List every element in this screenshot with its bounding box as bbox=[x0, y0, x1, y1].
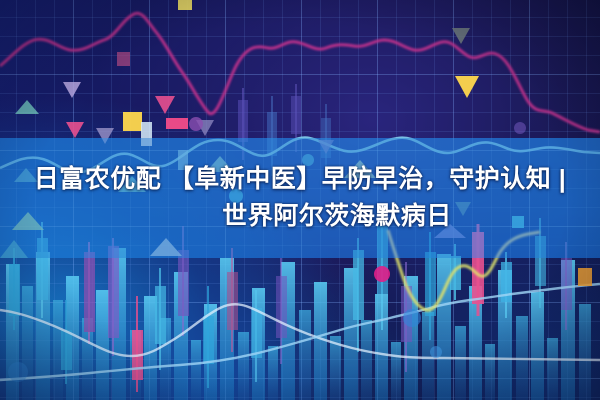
marker-triangle-down bbox=[455, 76, 479, 98]
marker-circle-pink bbox=[374, 266, 390, 282]
marker-circle-blue bbox=[403, 309, 421, 327]
marker-circle-purple bbox=[514, 122, 526, 134]
marker-triangle-down bbox=[63, 82, 81, 98]
marker-circle-blue bbox=[8, 362, 28, 382]
title-line-1: 日富农优配 【阜新中医】早防早治，守护认知 | bbox=[34, 164, 566, 195]
title-block: 日富农优配 【阜新中医】早防早治，守护认知 | 世界阿尔茨海默病日 bbox=[0, 138, 600, 258]
marker-triangle-down bbox=[155, 96, 175, 114]
marker-triangle-down bbox=[66, 122, 84, 138]
marker-triangle-up bbox=[15, 100, 39, 114]
marker-square-yellow bbox=[123, 112, 142, 131]
marker-triangle-down bbox=[452, 28, 470, 44]
marker-square-yellow bbox=[178, 0, 192, 10]
marker-square-orange bbox=[578, 268, 592, 286]
title-line-2: 世界阿尔茨海默病日 bbox=[148, 201, 452, 232]
marker-square-pink bbox=[117, 52, 130, 66]
stock-chart-banner: 日富农优配 【阜新中医】早防早治，守护认知 | 世界阿尔茨海默病日 bbox=[0, 0, 600, 400]
marker-circle-blue bbox=[430, 346, 442, 358]
marker-circle-purple bbox=[189, 117, 203, 131]
marker-square-pink bbox=[166, 118, 188, 129]
